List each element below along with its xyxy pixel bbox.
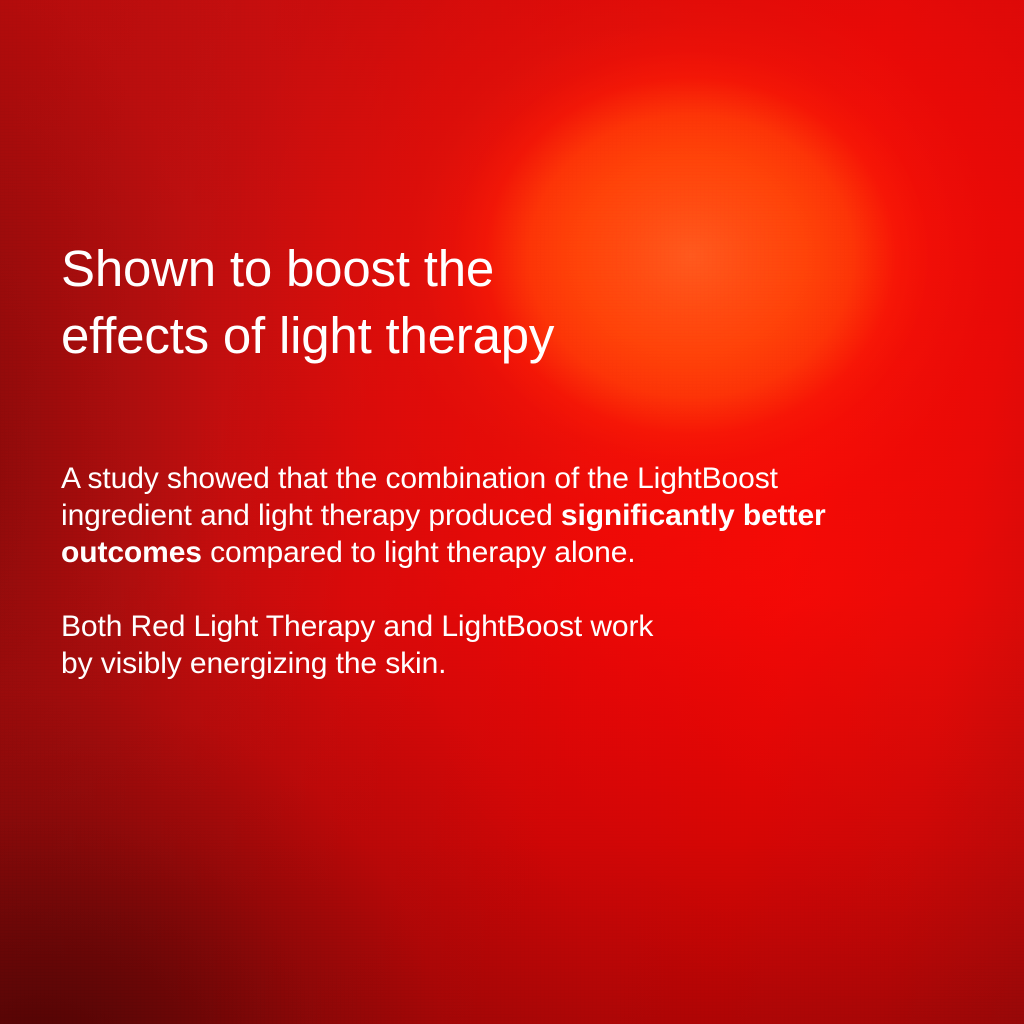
body-paragraph-1-tail: compared to light therapy alone. (202, 536, 636, 569)
body-copy: A study showed that the combination of t… (61, 460, 861, 682)
headline: Shown to boost the effects of light ther… (61, 235, 881, 369)
body-paragraph-2: Both Red Light Therapy and LightBoost wo… (61, 608, 861, 682)
promo-card: Shown to boost the effects of light ther… (0, 0, 1024, 1024)
card-content: Shown to boost the effects of light ther… (0, 0, 1024, 1024)
body-paragraph-1: A study showed that the combination of t… (61, 460, 861, 571)
